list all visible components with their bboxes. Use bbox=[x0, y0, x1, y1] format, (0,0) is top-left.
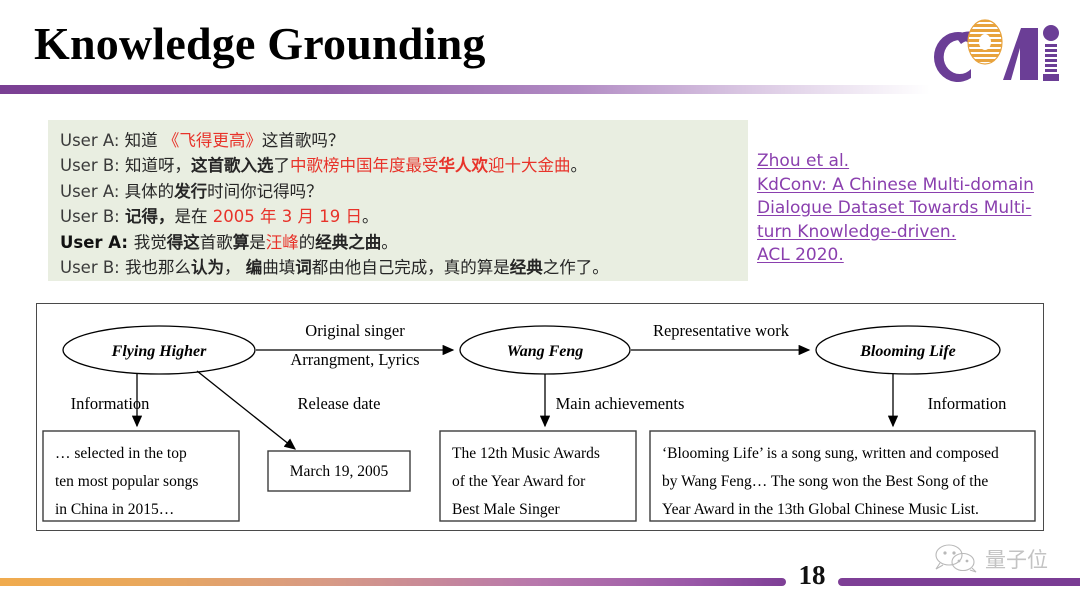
dialogue-text: 知道呀， bbox=[125, 156, 191, 175]
dialogue-line: User B: 知道呀，这首歌入选了中歌榜中国年度最受华人欢迎十大金曲。 bbox=[60, 153, 738, 178]
edge-label-representative-work: Representative work bbox=[653, 321, 790, 340]
dialogue-text: 经典之曲 bbox=[315, 233, 381, 252]
dialogue-text: 这首歌入 bbox=[191, 156, 257, 175]
dialogue-speaker: User A: bbox=[60, 182, 125, 201]
box-blooming-info-line-1: by Wang Feng… The song won the Best Song… bbox=[662, 473, 988, 490]
dialogue-speaker: User B: bbox=[60, 258, 125, 277]
dialogue-highlight: 华人欢 bbox=[438, 156, 488, 175]
page-number: 18 bbox=[786, 560, 838, 590]
node-blooming-life-label: Blooming Life bbox=[859, 343, 956, 360]
knowledge-graph-figure: Flying Higher Wang Feng Blooming Life Or… bbox=[36, 303, 1044, 531]
edge-label-release-date: Release date bbox=[298, 394, 381, 413]
page-title: Knowledge Grounding bbox=[34, 16, 486, 72]
dialogue-text: 曲填 bbox=[262, 258, 295, 277]
oai-logo bbox=[925, 14, 1067, 88]
dialogue-text: 时间你记得吗？ bbox=[207, 182, 323, 201]
dialogue-speaker: User A: bbox=[60, 131, 125, 150]
box-song-info-line-1: ten most popular songs bbox=[55, 473, 198, 490]
dialogue-text: 这首歌吗？ bbox=[262, 131, 345, 150]
edge-label-information-left: Information bbox=[71, 394, 150, 413]
dialogue-text: 之作了。 bbox=[543, 258, 609, 277]
dialogue-text: 记得， bbox=[125, 207, 175, 226]
dialogue-text: 是在 bbox=[174, 207, 212, 226]
dialogue-text: 是 bbox=[249, 233, 266, 252]
dialogue-speaker: User A: bbox=[60, 233, 134, 252]
citation-link-line[interactable]: ACL 2020. bbox=[757, 244, 1067, 268]
dialogue-line: User A: 具体的发行时间你记得吗？ bbox=[60, 179, 738, 204]
dialogue-text: 首歌 bbox=[200, 233, 233, 252]
box-song-info-line-0: … selected in the top bbox=[55, 445, 187, 462]
box-song-info-line-2: in China in 2015… bbox=[55, 501, 174, 518]
box-release-date-line-0: March 19, 2005 bbox=[290, 463, 389, 480]
citation-link-line[interactable]: KdConv: A Chinese Multi-domain bbox=[757, 174, 1067, 198]
edge-label-main-achievements: Main achievements bbox=[556, 394, 685, 413]
node-wang-feng-label: Wang Feng bbox=[507, 343, 584, 360]
citation-block[interactable]: Zhou et al.KdConv: A Chinese Multi-domai… bbox=[757, 150, 1067, 268]
dialogue-text: 我觉 bbox=[134, 233, 167, 252]
dialogue-highlight: 《飞得更高》 bbox=[163, 131, 262, 150]
wechat-label: 量子位 bbox=[985, 548, 1048, 572]
box-achievements-line-2: Best Male Singer bbox=[452, 501, 560, 518]
dialogue-speaker: User B: bbox=[60, 156, 125, 175]
dialogue-text: 我也那么 bbox=[125, 258, 191, 277]
dialogue-highlight: 迎十大金曲 bbox=[488, 156, 571, 175]
citation-link-line[interactable]: Dialogue Dataset Towards Multi- bbox=[757, 197, 1067, 221]
edge-label-original-singer: Original singer bbox=[305, 321, 405, 340]
dialogue-text: 这 bbox=[183, 233, 200, 252]
dialogue-text: 。 bbox=[381, 233, 398, 252]
dialogue-speaker: User B: bbox=[60, 207, 125, 226]
dialogue-text: 。 bbox=[570, 156, 587, 175]
dialogue-line: User B: 我也那么认为， 编曲填词都由他自己完成，真的算是经典之作了。 bbox=[60, 255, 738, 280]
dialogue-text: 发行 bbox=[174, 182, 207, 201]
slide-canvas: Knowledge Grounding User A: 知道 《飞得更高》这首歌… bbox=[0, 0, 1080, 608]
dialogue-text: 具体的 bbox=[125, 182, 175, 201]
dialogue-text: 的 bbox=[299, 233, 316, 252]
citation-link-line[interactable]: Zhou et al. bbox=[757, 150, 1067, 174]
box-blooming-info-line-0: ‘Blooming Life’ is a song sung, written … bbox=[662, 445, 999, 462]
citation-link-line[interactable]: turn Knowledge-driven. bbox=[757, 221, 1067, 245]
title-divider bbox=[0, 85, 930, 94]
node-flying-higher-label: Flying Higher bbox=[111, 343, 207, 360]
dialogue-text: 都由他自己完成，真的算是 bbox=[312, 258, 510, 277]
dialogue-highlight: 2005 年 3 月 19 日 bbox=[213, 207, 362, 226]
footer-bar-left bbox=[0, 578, 786, 586]
dialogue-text: 选 bbox=[257, 156, 274, 175]
box-achievements-line-1: of the Year Award for bbox=[452, 473, 586, 490]
edge-label-information-right: Information bbox=[928, 394, 1007, 413]
dialogue-line: User A: 知道 《飞得更高》这首歌吗？ bbox=[60, 128, 738, 153]
dialogue-line: User B: 记得，是在 2005 年 3 月 19 日。 bbox=[60, 204, 738, 229]
dialogue-text: 得 bbox=[167, 233, 184, 252]
footer-bar-right bbox=[838, 578, 1080, 586]
dialogue-text: ， bbox=[224, 258, 246, 277]
box-blooming-info-line-2: Year Award in the 13th Global Chinese Mu… bbox=[662, 501, 979, 518]
dialogue-highlight: 汪峰 bbox=[266, 233, 299, 252]
dialogue-text: 编 bbox=[246, 258, 263, 277]
box-achievements-line-0: The 12th Music Awards bbox=[452, 445, 600, 462]
wechat-watermark: 量子位 bbox=[928, 543, 1068, 573]
dialogue-text: 词 bbox=[295, 258, 312, 277]
dialogue-highlight: 中歌榜中国年度最受 bbox=[290, 156, 439, 175]
dialogue-text: 算 bbox=[233, 233, 250, 252]
dialogue-text: 经典 bbox=[510, 258, 543, 277]
dialogue-text: 了 bbox=[273, 156, 290, 175]
dialogue-text: 。 bbox=[362, 207, 379, 226]
dialogue-panel: User A: 知道 《飞得更高》这首歌吗？User B: 知道呀，这首歌入选了… bbox=[48, 120, 748, 281]
dialogue-text: 认为 bbox=[191, 258, 224, 277]
edge-label-arrangment-lyrics: Arrangment, Lyrics bbox=[290, 350, 419, 369]
dialogue-text: 知道 bbox=[125, 131, 163, 150]
dialogue-line: User A: 我觉得这首歌算是汪峰的经典之曲。 bbox=[60, 230, 738, 255]
